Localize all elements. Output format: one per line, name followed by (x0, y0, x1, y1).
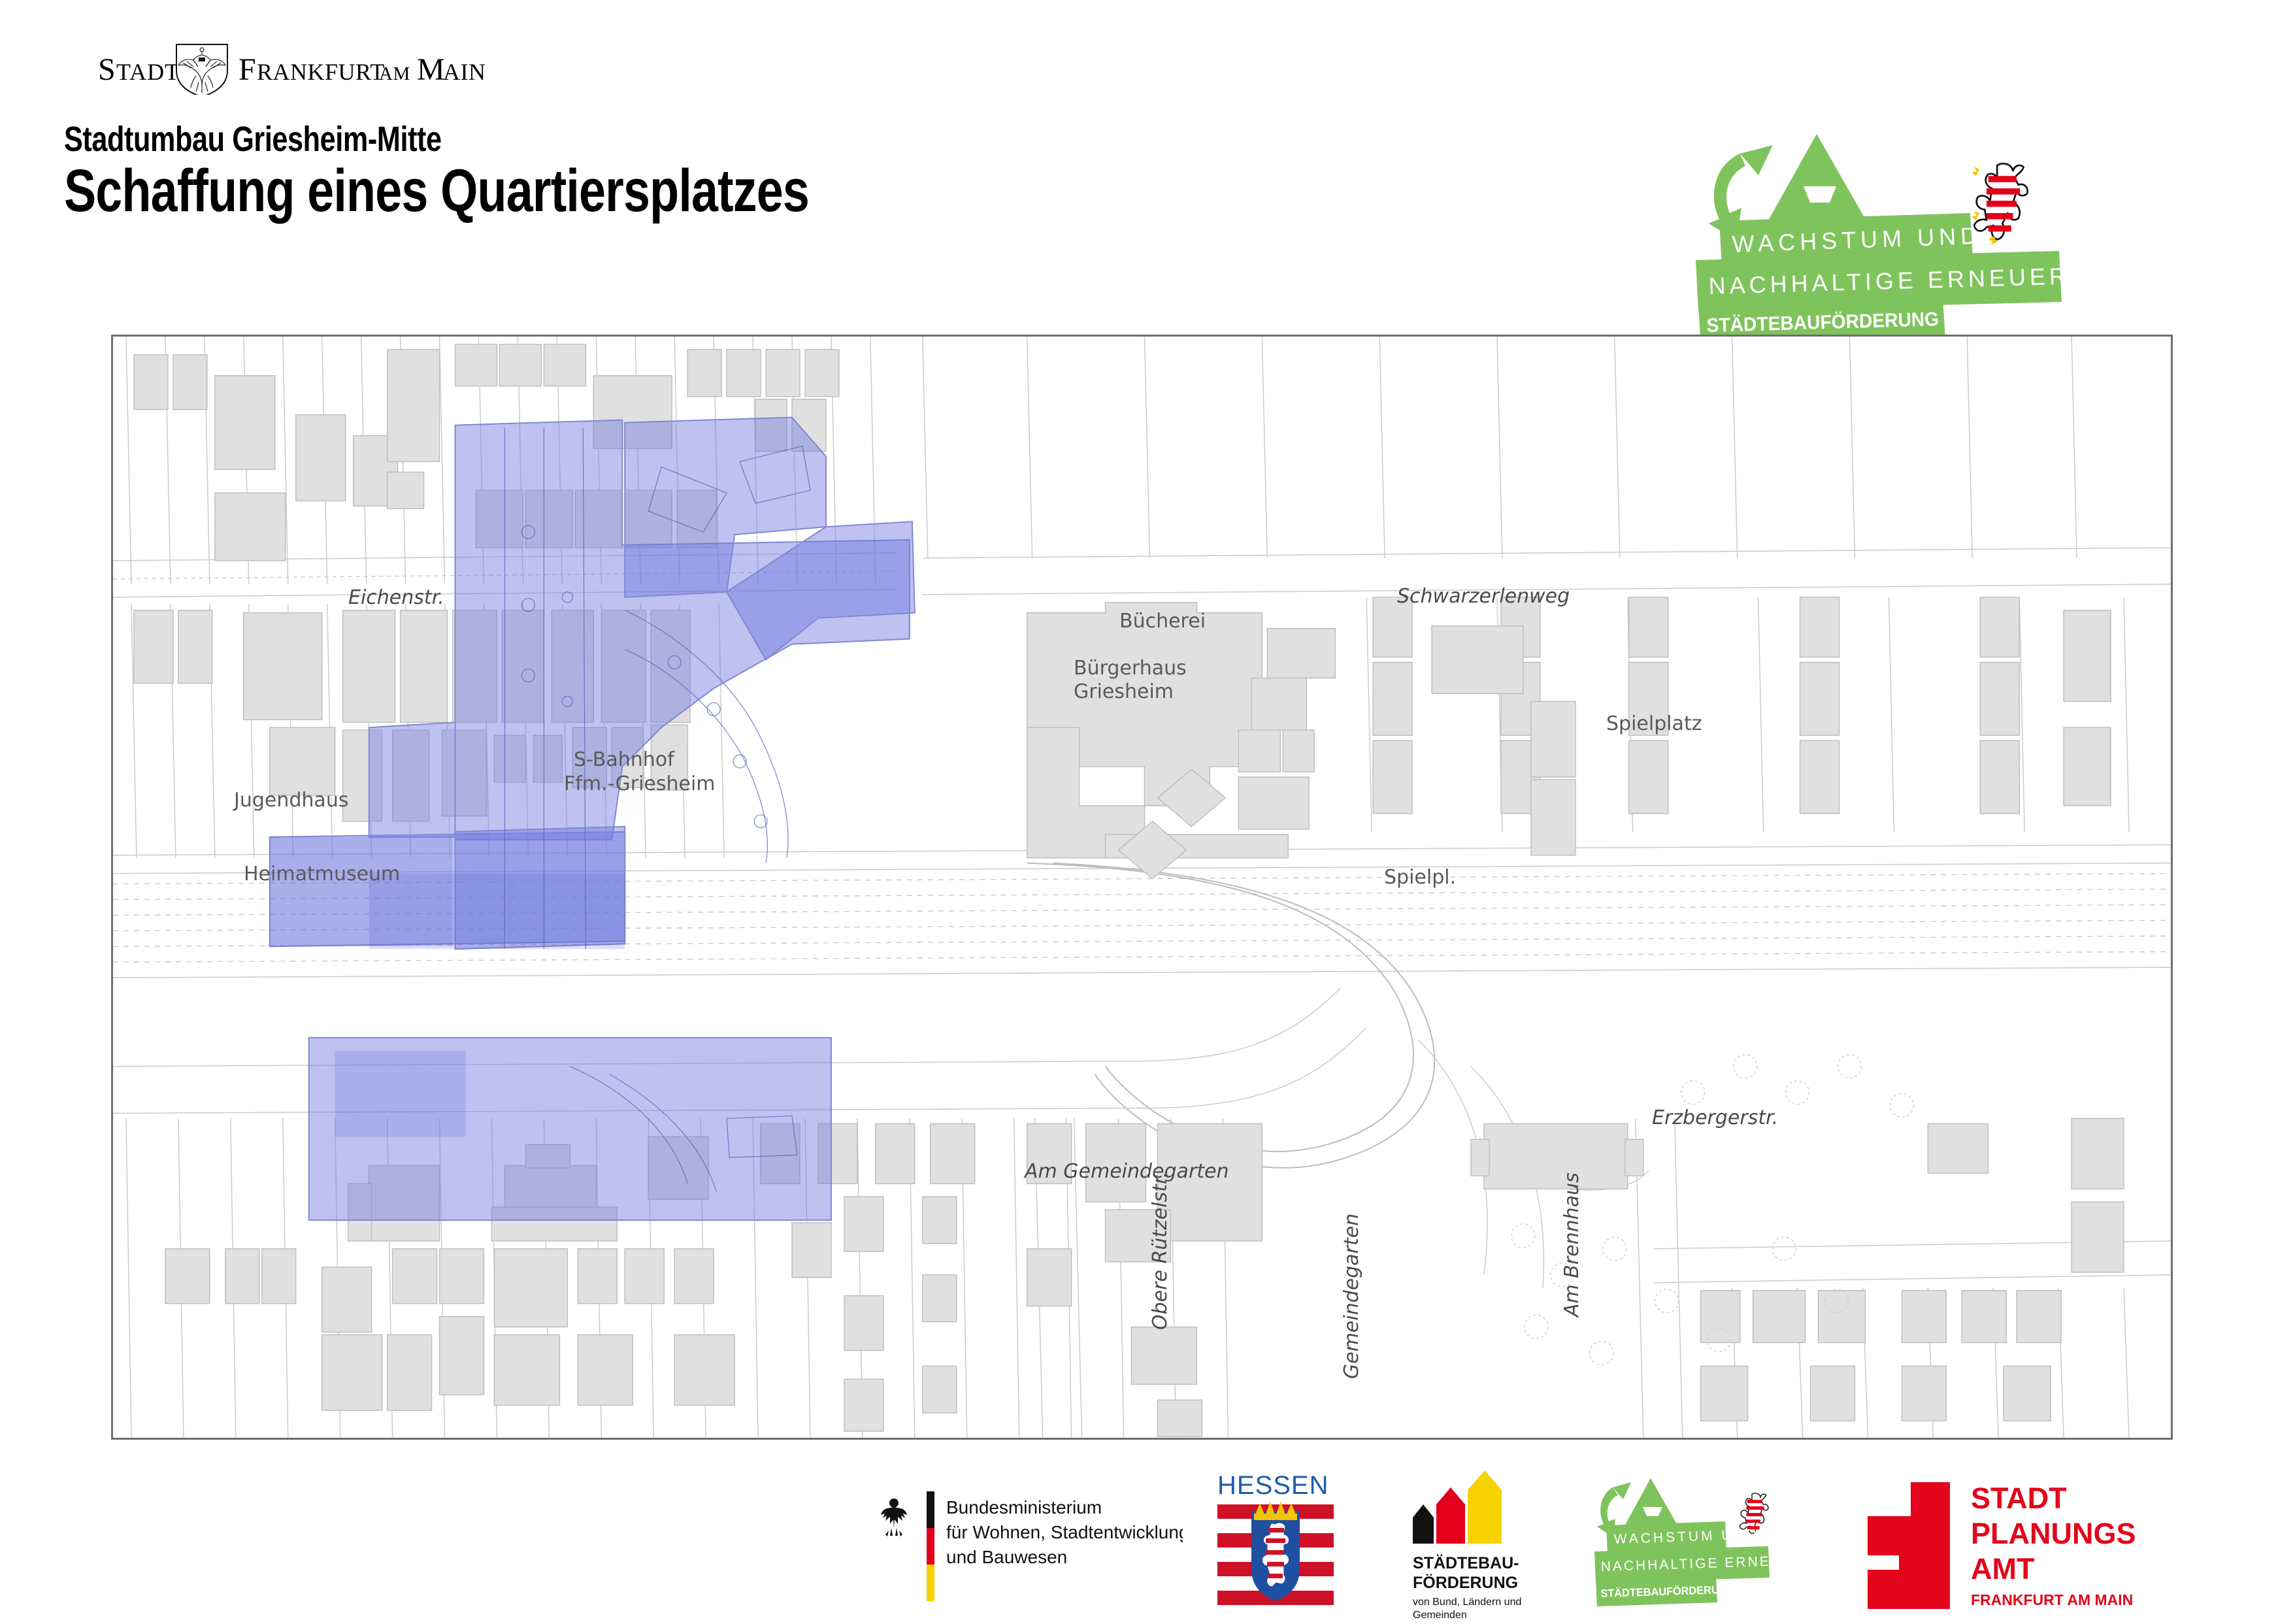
svg-text:AIN: AIN (443, 59, 486, 85)
stadtplanungsamt-mark (1868, 1482, 1950, 1609)
bmwsb-line2: für Wohnen, Stadtentwicklung (946, 1522, 1183, 1542)
svg-text:S: S (98, 52, 116, 87)
hessen-shield-icon (1217, 1504, 1334, 1605)
svg-text:F: F (239, 52, 256, 87)
page-title: Schaffung eines Quartiersplatzes (64, 157, 809, 225)
spa-line2: PLANUNGS (1971, 1517, 2136, 1550)
logo-bmwsb: Bundesministerium für Wohnen, Stadtentwi… (869, 1470, 1183, 1621)
footer-logo-strip: Bundesministerium für Wohnen, Stadtentwi… (0, 1470, 2293, 1621)
bmwsb-line3: und Bauwesen (946, 1547, 1067, 1567)
bmwsb-line1: Bundesministerium (946, 1497, 1102, 1517)
spa-line1: STADT (1971, 1482, 2067, 1515)
frankfurt-eagle-coat-of-arms (176, 44, 227, 95)
bundesadler-icon (881, 1499, 907, 1536)
logo-hessen: HESSEN (1212, 1470, 1340, 1621)
staedtebau-line2: FÖRDERUNG (1413, 1573, 1518, 1592)
map-canvas (113, 337, 2171, 1438)
cadastral-map[interactable]: Eichenstr. Schwarzerlenweg Erzbergerstr.… (111, 335, 2173, 1440)
three-houses-icon (1413, 1470, 1502, 1544)
logo-stadtplanungsamt: STADT PLANUNGS AMT FRANKFURT AM MAIN (1849, 1470, 2176, 1621)
svg-text:RANKFURT: RANKFURT (257, 59, 385, 85)
page-subtitle: Stadtumbau Griesheim-Mitte (64, 119, 442, 159)
spa-sub: FRANKFURT AM MAIN (1971, 1591, 2133, 1608)
city-logo: S TADT F RANKFURT AM M (98, 33, 516, 95)
svg-text:TADT: TADT (116, 59, 180, 85)
logo-wachstum-erneuerung-small: WACHSTUM UND NACHHALTIGE ERNEUERUNG STÄD… (1594, 1470, 1810, 1621)
staedtebau-line1: STÄDTEBAU- (1413, 1554, 1519, 1572)
svg-text:AM: AM (379, 63, 410, 84)
spa-line3: AMT (1971, 1552, 2034, 1585)
hessen-label: HESSEN (1217, 1471, 1329, 1500)
staedtebau-sub1: von Bund, Ländern und (1413, 1597, 1521, 1608)
svg-text:M: M (417, 52, 445, 87)
staedtebau-sub2: Gemeinden (1413, 1610, 1467, 1621)
logo-staedtebaufoerderung: STÄDTEBAU- FÖRDERUNG von Bund, Ländern u… (1398, 1470, 1549, 1621)
